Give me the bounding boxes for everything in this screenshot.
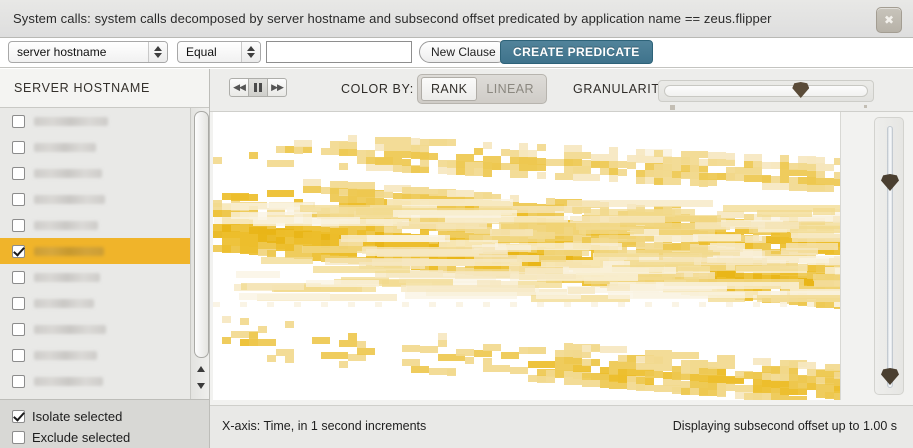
heatmap-cell [618, 369, 627, 376]
playback-controls: ◀◀ ▶▶ [229, 78, 286, 97]
heatmap-cell [807, 383, 816, 390]
heatmap-cell [584, 209, 695, 216]
predicate-value-input[interactable] [266, 41, 412, 63]
hostname-checkbox[interactable] [12, 193, 25, 206]
heatmap-cell [564, 378, 582, 385]
heatmap-cell [564, 152, 591, 159]
exclude-selected-checkbox[interactable] [12, 431, 25, 444]
heatmap-cell [591, 373, 600, 380]
heatmap-cell [717, 390, 726, 397]
heatmap-cell [420, 153, 438, 160]
heatmap-cell [564, 343, 573, 350]
heatmap-cell [735, 272, 744, 279]
heatmap-cell [708, 362, 735, 369]
heatmap-cell [321, 148, 330, 155]
heatmap-cell [717, 369, 726, 376]
heatmap-cell [591, 154, 618, 161]
heatmap-cell [312, 186, 321, 193]
granularity-label: GRANULARITY [573, 82, 669, 96]
heatmap-cell [258, 235, 267, 242]
hostname-checkbox[interactable] [12, 349, 25, 362]
exclude-selected-label: Exclude selected [32, 430, 130, 445]
offset-range-slider[interactable] [874, 117, 904, 395]
heatmap-cell [411, 138, 420, 145]
isolate-selected-label: Isolate selected [32, 409, 122, 424]
heatmap-cell [563, 267, 676, 274]
hostname-row[interactable] [0, 238, 209, 264]
heatmap-cell [267, 160, 294, 167]
heatmap-cell [567, 200, 713, 207]
heatmap-cell [465, 357, 474, 364]
range-slider-bottom-handle[interactable] [881, 368, 899, 385]
heatmap-cell [402, 159, 411, 166]
operator-select-value: Equal [178, 45, 241, 59]
heatmap-cell [490, 229, 533, 236]
hostname-label [34, 195, 105, 204]
heatmap-cell [636, 384, 654, 391]
heatmap-cell [780, 302, 787, 307]
heatmap-cell [825, 392, 834, 399]
heatmap-cell [357, 341, 366, 348]
heatmap-cell [402, 359, 420, 366]
heatmap-cell [762, 176, 771, 183]
heatmap-cell [568, 287, 595, 294]
heatmap-cell [348, 333, 357, 340]
heatmap-cell [609, 361, 627, 368]
heatmap-cell [807, 302, 814, 307]
heatmap-cell [528, 158, 546, 165]
heatmap-cell [537, 376, 555, 383]
heatmap-cell [573, 365, 591, 372]
heatmap-cell [555, 371, 564, 378]
heatmap-cell [654, 357, 663, 364]
heatmap-cell [834, 302, 841, 307]
heatmap-cell [519, 164, 546, 171]
heatmap-cell [609, 161, 627, 168]
heatmap-cell [695, 222, 799, 229]
heatmap-cell [447, 190, 474, 197]
heatmap-cell [609, 382, 627, 389]
hostname-label [34, 325, 106, 334]
heatmap-cell [285, 244, 294, 251]
heatmap-cell [375, 198, 384, 205]
hostname-row[interactable] [0, 316, 209, 342]
hostname-checkbox[interactable] [12, 115, 25, 128]
heatmap-cell [306, 280, 379, 287]
hostname-row[interactable] [0, 186, 209, 212]
heatmap-cell [564, 145, 582, 152]
heatmap-cell [780, 374, 789, 381]
heatmap-cell [744, 161, 753, 168]
heatmap-cell [573, 358, 582, 365]
heatmap-cell [690, 165, 699, 172]
heatmap-cell [393, 210, 517, 217]
granularity-tick-right [864, 105, 867, 108]
heatmap-cell [618, 169, 627, 176]
hostname-label [34, 117, 108, 126]
heatmap-cell [645, 350, 672, 357]
heatmap-cell [609, 175, 618, 182]
heatmap-cell [708, 152, 726, 159]
heatmap-cell [429, 302, 436, 307]
heatmap-cell [717, 270, 726, 277]
heatmap-cell [372, 259, 475, 266]
granularity-slider[interactable] [658, 80, 874, 102]
x-axis-caption: X-axis: Time, in 1 second increments [222, 419, 426, 433]
predicate-bar: server hostname Equal New Clause CREATE … [0, 38, 913, 68]
heatmap-cell [401, 285, 535, 292]
heatmap-canvas[interactable] [213, 112, 841, 400]
color-by-toggle: RANK LINEAR [417, 74, 547, 104]
heatmap-cell [375, 144, 384, 151]
heatmap-cell [456, 349, 474, 356]
heatmap-cell [321, 352, 348, 359]
heatmap-cell [483, 344, 501, 351]
heatmap-cell [339, 149, 357, 156]
heatmap-cell [510, 302, 517, 307]
heatmap-cell [294, 147, 303, 154]
heatmap-cell [645, 371, 663, 378]
heatmap-cell [600, 367, 609, 374]
heatmap-cell [366, 150, 375, 157]
heatmap-cell [483, 156, 501, 163]
heatmap-cell [321, 302, 328, 307]
heatmap-cell [375, 302, 382, 307]
isolate-selected-checkbox[interactable] [12, 410, 25, 423]
sidebar-scrollbar[interactable] [190, 108, 209, 399]
heatmap-cell [834, 372, 841, 379]
heatmap-cell [834, 158, 841, 165]
heatmap-cell [757, 295, 841, 302]
granularity-track[interactable] [664, 85, 868, 97]
heatmap-cell [222, 337, 231, 344]
heatmap-cell [510, 367, 528, 374]
heatmap-cell [694, 258, 767, 265]
close-button[interactable]: ✖ [876, 7, 902, 33]
hostname-row[interactable] [0, 212, 209, 238]
heatmap-cell [573, 235, 582, 242]
heatmap-cell [636, 363, 654, 370]
hostname-checkbox[interactable] [12, 375, 25, 388]
heatmap-cell [411, 145, 429, 152]
hostname-checkbox[interactable] [12, 219, 25, 232]
heatmap-cell [564, 302, 571, 307]
heatmap-cell [312, 226, 321, 233]
heatmap-cell [564, 364, 573, 371]
heatmap-cell [807, 362, 816, 369]
stepper-icon [148, 42, 167, 62]
heatmap-cell [499, 222, 620, 229]
heatmap-cell [537, 302, 544, 307]
granularity-tick-left [670, 105, 675, 110]
hostname-sidebar: SERVER HOSTNAME Isolate selected Exclude… [0, 69, 210, 448]
heatmap-cell [377, 250, 508, 257]
heatmap-cell [654, 178, 663, 185]
heatmap-cell [663, 178, 681, 185]
heatmap-cell [753, 393, 762, 400]
hostname-label [34, 273, 100, 282]
heatmap-cell [780, 176, 789, 183]
hostname-row[interactable] [0, 342, 209, 368]
heatmap-cell [546, 198, 555, 205]
granularity-thumb[interactable] [792, 82, 809, 98]
heatmap-cell [375, 158, 402, 165]
heatmap-cell [618, 376, 627, 383]
heatmap-cell [501, 149, 510, 156]
heatmap-cell [663, 379, 681, 386]
heatmap-cell [357, 157, 366, 164]
heatmap-cell [405, 292, 517, 299]
heatmap-cell [465, 169, 483, 176]
scrollbar-thumb[interactable] [194, 111, 209, 358]
heatmap-cell [474, 148, 483, 155]
heatmap-cell [247, 283, 304, 290]
heatmap-cell [339, 361, 348, 368]
title-bar: System calls: system calls decomposed by… [0, 0, 913, 38]
hostname-row[interactable] [0, 264, 209, 290]
hostname-label [34, 299, 94, 308]
pause-icon[interactable] [248, 78, 268, 97]
heatmap-cell [636, 149, 645, 156]
heatmap-cell [834, 172, 841, 179]
hostname-checkbox[interactable] [12, 271, 25, 284]
heatmap-cell [330, 195, 339, 202]
heatmap-cell [672, 302, 679, 307]
heatmap-cell [564, 159, 582, 166]
heatmap-cell [348, 302, 355, 307]
heatmap-cell [555, 364, 564, 371]
rewind-icon[interactable]: ◀◀ [229, 78, 249, 97]
system-calls-window: System calls: system calls decomposed by… [0, 0, 913, 448]
create-predicate-button[interactable]: CREATE PREDICATE [500, 40, 653, 64]
heatmap-cell [582, 345, 591, 352]
heatmap-cell [573, 372, 582, 379]
color-by-linear-option[interactable]: LINEAR [477, 78, 543, 100]
heatmap-cell [726, 384, 735, 391]
heatmap-cell [236, 271, 280, 278]
heatmap-cell [300, 205, 402, 212]
heatmap-cell [591, 345, 600, 352]
hostname-checkbox[interactable] [12, 167, 25, 180]
heatmap-cell [339, 239, 363, 246]
heatmap-cell [528, 347, 546, 354]
page-title: System calls: system calls decomposed by… [13, 11, 772, 26]
heatmap-cell [348, 354, 366, 361]
sidebar-header-label: SERVER HOSTNAME [0, 81, 150, 95]
heatmap-cell [636, 377, 645, 384]
heatmap-cell [483, 358, 492, 365]
heatmap-cell [762, 373, 771, 380]
heatmap-cell [384, 144, 393, 151]
heatmap-cell [663, 164, 681, 171]
color-by-label: COLOR BY: [341, 82, 414, 96]
heatmap-cell [665, 264, 808, 271]
heatmap-cell [294, 302, 301, 307]
heatmap-cell [753, 161, 762, 168]
heatmap-cell [339, 163, 348, 170]
heatmap-cell [708, 159, 735, 166]
heatmap-panel [210, 112, 913, 405]
heatmap-cell [833, 216, 841, 223]
heatmap-cell [366, 164, 393, 171]
heatmap-cell [411, 366, 429, 373]
heatmap-cell [645, 302, 652, 307]
heatmap-cell [627, 162, 636, 169]
heatmap-cell [573, 167, 591, 174]
heatmap-cell [789, 184, 798, 191]
heatmap-cell [537, 144, 546, 151]
heatmap-cell [591, 302, 598, 307]
hostname-row[interactable] [0, 368, 209, 394]
heatmap-cell [455, 272, 576, 279]
hostname-checkbox[interactable] [12, 297, 25, 310]
heatmap-cell [387, 199, 513, 206]
heatmap-cell [744, 168, 762, 175]
heatmap-cell [744, 154, 762, 161]
heatmap-cell [267, 302, 274, 307]
heatmap-cell [690, 381, 699, 388]
heatmap-cell [402, 187, 429, 194]
heatmap-cell [267, 355, 276, 362]
hostname-checkbox[interactable] [12, 141, 25, 154]
range-slider-track[interactable] [887, 126, 893, 388]
heatmap-cell [690, 388, 699, 395]
heatmap-cell [726, 377, 744, 384]
heatmap-cell [294, 238, 303, 245]
hostname-row[interactable] [0, 290, 209, 316]
heatmap-cell [294, 140, 312, 147]
hostname-row[interactable] [0, 160, 209, 186]
caret-down-icon[interactable] [193, 378, 208, 393]
heatmap-cell [525, 229, 586, 236]
heatmap-cell [762, 183, 789, 190]
heatmap-cell [240, 247, 249, 254]
heatmap-cell [600, 381, 609, 388]
heatmap-cell [285, 321, 294, 328]
heatmap-cell [789, 368, 798, 375]
heatmap-cell [573, 207, 582, 214]
isolate-selected-row[interactable]: Isolate selected [12, 406, 209, 427]
heatmap-cell [456, 302, 463, 307]
range-slider-top-handle[interactable] [881, 174, 899, 191]
heatmap-cell [834, 393, 841, 400]
heatmap-cell [222, 232, 231, 239]
heatmap-cell [618, 302, 625, 307]
heatmap-cell [483, 142, 492, 149]
heatmap-cell [681, 151, 708, 158]
heatmap-cell [258, 326, 267, 333]
heatmap-cell [483, 365, 510, 372]
heatmap-cell [757, 210, 812, 217]
heatmap-cell [330, 181, 348, 188]
heatmap-cell [285, 356, 294, 363]
hostname-row[interactable] [0, 108, 209, 134]
heatmap-cell [339, 228, 348, 235]
new-clause-button[interactable]: New Clause [419, 41, 508, 63]
heatmap-cell [663, 157, 672, 164]
field-select[interactable]: server hostname [8, 41, 168, 63]
heatmap-cell [726, 302, 733, 307]
heatmap-cell [313, 266, 410, 273]
heatmap-cell [654, 364, 672, 371]
exclude-selected-row[interactable]: Exclude selected [12, 427, 209, 448]
heatmap-cell [654, 150, 663, 157]
heatmap-cell [483, 170, 492, 177]
heatmap-cell [249, 152, 258, 159]
heatmap-cell [303, 186, 312, 193]
heatmap-cell [771, 395, 789, 400]
heatmap-cell [384, 151, 393, 158]
heatmap-cell [807, 171, 816, 178]
heatmap-cell [781, 248, 818, 255]
heatmap-cell [717, 355, 735, 362]
heatmap-cell [483, 302, 490, 307]
heatmap-cell [717, 211, 744, 218]
heatmap-cell [495, 243, 622, 250]
caret-up-icon[interactable] [193, 361, 208, 376]
heatmap-cell [261, 257, 313, 264]
offset-range-caption: Displaying subsecond offset up to 1.00 s [673, 419, 897, 433]
hostname-label [34, 169, 102, 178]
hostname-list[interactable] [0, 108, 209, 399]
heatmap-cell [555, 173, 573, 180]
heatmap-cell [544, 249, 589, 256]
heatmap-cell [357, 348, 375, 355]
heatmap-cell [375, 137, 384, 144]
heatmap-cell [726, 153, 735, 160]
heatmap-cell [813, 208, 835, 215]
hostname-checkbox[interactable] [12, 245, 25, 258]
heatmap-cell [312, 337, 330, 344]
heatmap-cell [780, 169, 807, 176]
heatmap-cell [402, 345, 420, 352]
heatmap-cell [681, 158, 699, 165]
heatmap-cell [222, 316, 231, 323]
heatmap-cell [726, 174, 744, 181]
heatmap-cell [519, 150, 537, 157]
heatmap-cell [570, 216, 665, 223]
heatmap-cell [825, 267, 841, 274]
hostname-label [34, 143, 96, 152]
heatmap-cell [411, 166, 429, 173]
heatmap-cell [726, 271, 735, 278]
heatmap-cell [745, 236, 766, 243]
operator-select[interactable]: Equal [177, 41, 261, 63]
heatmap-cell [348, 142, 357, 149]
heatmap-cell [438, 139, 447, 146]
sidebar-footer: Isolate selected Exclude selected [0, 399, 209, 448]
heatmap-cell [834, 386, 841, 393]
heatmap-cell [240, 318, 249, 325]
heatmap-cell [239, 293, 330, 300]
close-icon: ✖ [877, 8, 901, 32]
heatmap-cell [672, 366, 681, 373]
heatmap-cell [591, 359, 600, 366]
stepper-icon [241, 42, 260, 62]
heatmap-cell [510, 171, 528, 178]
heatmap-cell [672, 373, 690, 380]
fast-forward-icon[interactable]: ▶▶ [267, 78, 287, 97]
color-by-rank-option[interactable]: RANK [421, 77, 477, 101]
heatmap-cell [771, 176, 780, 183]
heatmap-cell [627, 362, 636, 369]
heatmap-cell [645, 177, 654, 184]
hostname-checkbox[interactable] [12, 323, 25, 336]
heatmap-cell [813, 274, 841, 281]
heatmap-cell [312, 254, 321, 261]
heatmap-cell [213, 302, 220, 307]
hostname-row[interactable] [0, 134, 209, 160]
